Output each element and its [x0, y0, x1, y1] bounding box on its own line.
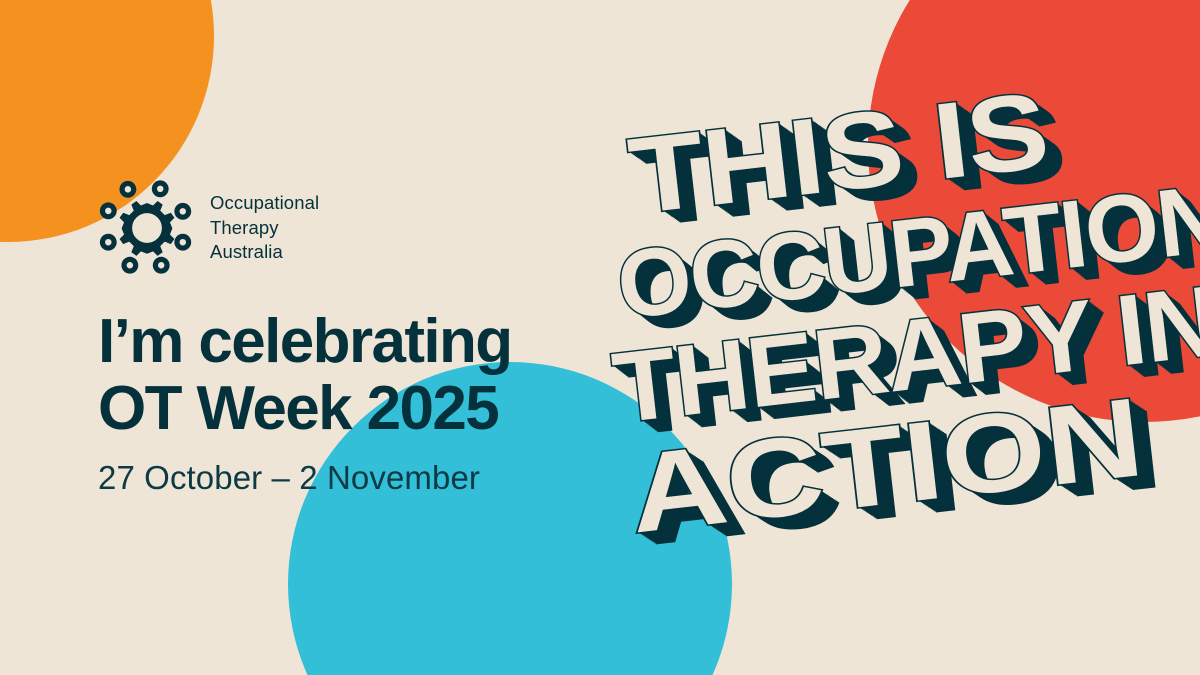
ota-cog-logo-icon — [98, 179, 196, 277]
left-content-column: Occupational Therapy Australia I’m celeb… — [98, 176, 628, 497]
page-title: I’m celebrating OT Week 2025 — [98, 308, 628, 443]
organisation-name: Occupational Therapy Australia — [210, 191, 319, 265]
campaign-slogan: THIS IS OCCUPATIONAL THERAPY IN ACTION — [612, 104, 1200, 554]
event-dates: 27 October – 2 November — [98, 459, 628, 497]
ota-logo-lockup: Occupational Therapy Australia — [98, 176, 628, 280]
ot-week-banner: Occupational Therapy Australia I’m celeb… — [0, 0, 1200, 675]
